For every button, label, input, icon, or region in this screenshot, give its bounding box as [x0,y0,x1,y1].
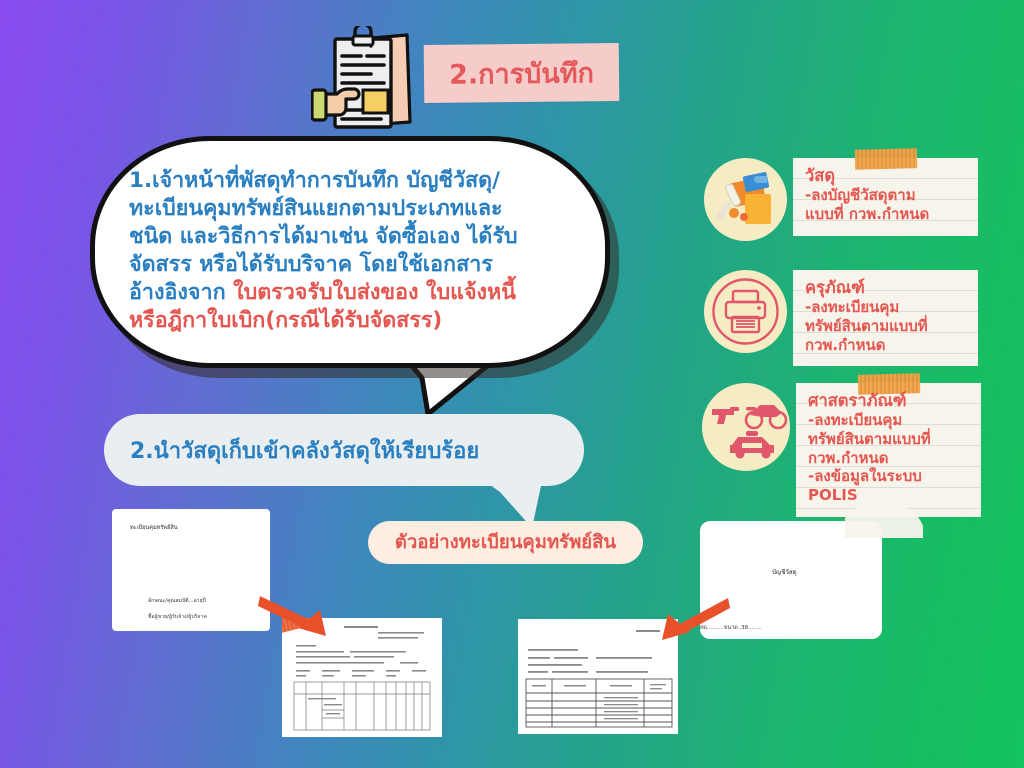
card-note-weapons: ศาสตราภัณฑ์ -ลงทะเบียนคุม ทรัพย์สินตามแบ… [796,383,981,517]
arrow-down-left [648,596,730,646]
doc-title: บัญชีวัสดุ [772,567,797,577]
bubble-line-highlight: หรือฎีกาใบเบิก(กรณีได้รับจัดสรร) [129,307,577,335]
card-title: ศาสตราภัณฑ์ [808,391,967,411]
bubble-line: ชนิด และวิธีการได้มาเช่น จัดซื้อเอง ได้ร… [129,223,577,251]
card-body: -ลงบัญชีวัสดุตาม แบบที่ กวพ.กำหนด [805,186,964,224]
card-note-durable-goods: ครุภัณฑ์ -ลงทะเบียนคุม ทรัพย์สินตามแบบที… [793,270,978,366]
doc-line: ชื่อผู้ขาย/ผู้รับจ้าง/ผู้บริจาค [148,613,207,621]
printer-icon [704,270,787,353]
main-bubble-text: 1.เจ้าหน้าที่พัสดุทำการบันทึก บัญชีวัสดุ… [129,167,577,335]
card-note-materials: วัสดุ -ลงบัญชีวัสดุตาม แบบที่ กวพ.กำหนด [793,158,978,236]
card-body: -ลงทะเบียนคุม ทรัพย์สินตามแบบที่ กวพ.กำห… [805,298,964,354]
bubble-line: จัดสรร หรือได้รับบริจาค โดยใช้เอกสาร [129,251,577,279]
bubble-line-plain: อ้างอิงจาก [129,280,233,305]
weapons-vehicles-icon [702,383,790,471]
office-supplies-icon [704,158,787,241]
card-body: -ลงทะเบียนคุม ทรัพย์สินตามแบบที่ กวพ.กำห… [808,411,967,505]
doc-line: ลักษณะ/คุณสมบัติ...อายุปี [148,597,206,605]
asset-register-sample-1[interactable]: ทะเบียนคุมทรัพย์สิน ลักษณะ/คุณสมบัติ...อ… [112,509,270,631]
clipboard-document-hand-icon [311,26,423,138]
card-durable-goods: ครุภัณฑ์ -ลงทะเบียนคุม ทรัพย์สินตามแบบที… [704,270,978,366]
page-title-badge: 2.การบันทึก [424,43,620,103]
bubble-line-highlight: ใบตรวจรับใบส่งของ ใบแจ้งหนี้ [233,280,516,305]
example-label-text: ตัวอย่างทะเบียนคุมทรัพย์สิน [395,528,616,557]
slide-canvas: 2.การบันทึก 1.เจ้าหน้าที่พัสดุทำการบันทึ… [0,0,1024,768]
bubble-line: ทะเบียนคุมทรัพย์สินแยกตามประเภทและ [129,195,577,223]
card-materials: วัสดุ -ลงบัญชีวัสดุตาม แบบที่ กวพ.กำหนด [704,158,978,241]
card-weapons: ศาสตราภัณฑ์ -ลงทะเบียนคุม ทรัพย์สินตามแบ… [702,383,981,517]
card-title: ครุภัณฑ์ [805,278,964,298]
example-label-pill: ตัวอย่างทะเบียนคุมทรัพย์สิน [368,521,643,564]
bubble-line: 1.เจ้าหน้าที่พัสดุทำการบันทึก บัญชีวัสดุ… [129,167,577,195]
page-title: 2.การบันทึก [449,51,594,96]
torn-paper-decoration [845,498,923,538]
card-title: วัสดุ [805,166,964,186]
second-speech-bubble: 2.นำวัสดุเก็บเข้าคลังวัสดุให้เรียบร้อย [104,414,584,486]
bubble-line: อ้างอิงจาก ใบตรวจรับใบส่งของ ใบแจ้งหนี้ [129,279,577,307]
main-speech-bubble: 1.เจ้าหน้าที่พัสดุทำการบันทึก บัญชีวัสดุ… [90,136,610,368]
arrow-down-right [258,592,340,642]
second-bubble-text: 2.นำวัสดุเก็บเข้าคลังวัสดุให้เรียบร้อย [130,414,564,486]
doc-title: ทะเบียนคุมทรัพย์สิน [130,524,178,532]
